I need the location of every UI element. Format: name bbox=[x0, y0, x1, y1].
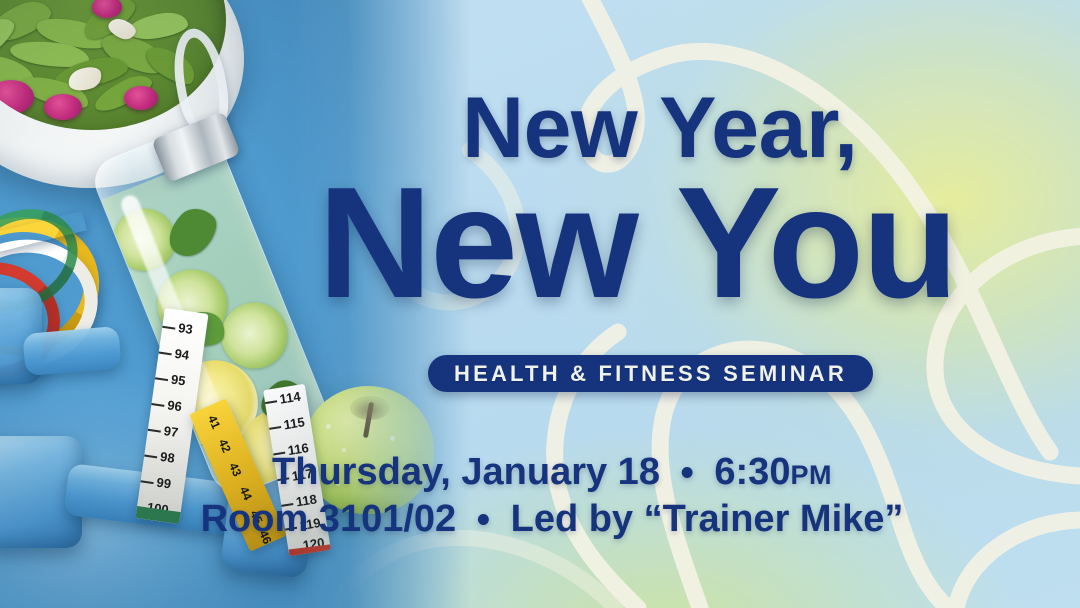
event-presenter: Led by “Trainer Mike” bbox=[511, 498, 904, 540]
headline-group: New Year, New You HEALTH & FITNESS SEMIN… bbox=[0, 0, 1080, 608]
seminar-banner: HEALTH & FITNESS SEMINAR bbox=[428, 355, 873, 392]
seminar-banner-label: HEALTH & FITNESS SEMINAR bbox=[454, 361, 847, 387]
event-detail-line-1: Thursday, January 18 • 6:30PM bbox=[0, 451, 1080, 495]
poster-canvas: 93 94 95 96 97 98 99 100 41 42 43 44 45 … bbox=[0, 0, 1080, 608]
event-time: 6:30 bbox=[714, 451, 790, 493]
event-room: Room 3101/02 bbox=[201, 498, 457, 540]
event-detail-line-2: Room 3101/02 • Led by “Trainer Mike” bbox=[0, 498, 1080, 542]
event-meridiem: PM bbox=[790, 460, 832, 490]
detail-separator-1: • bbox=[671, 452, 704, 495]
detail-separator-2: • bbox=[467, 499, 500, 542]
headline-line-2: New You bbox=[318, 168, 957, 318]
event-date: Thursday, January 18 bbox=[272, 451, 660, 493]
